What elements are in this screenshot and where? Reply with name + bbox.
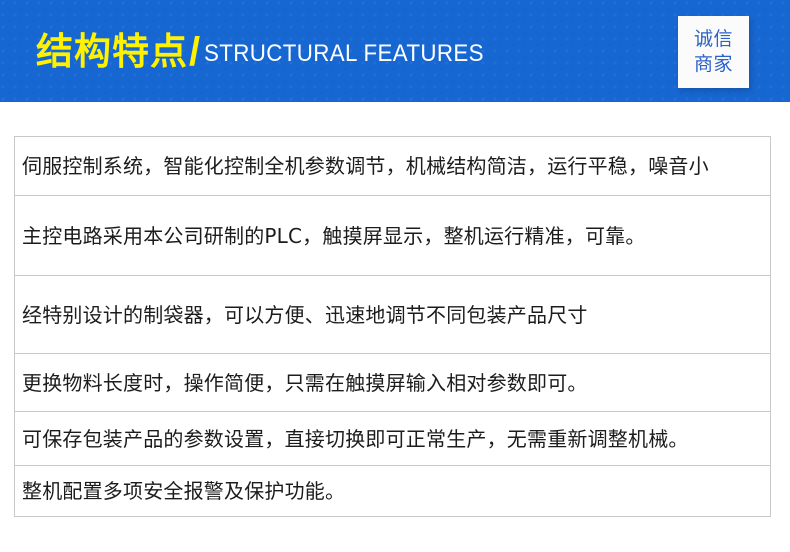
table-row: 伺服控制系统，智能化控制全机参数调节，机械结构简洁，运行平稳，噪音小 [15,137,770,196]
table-row: 可保存包装产品的参数设置，直接切换即可正常生产，无需重新调整机械。 [15,412,770,466]
header-title-group: 结构特点 / STRUCTURAL FEATURES [36,0,505,102]
badge-label-line-1: 诚信 [694,27,733,52]
product-feature-page: 结构特点 / STRUCTURAL FEATURES 诚信 商家 伺服控制系统，… [0,0,790,552]
feature-text: 主控电路采用本公司研制的PLC，触摸屏显示，整机运行精准，可靠。 [22,224,646,248]
title-separator-slash: / [189,32,200,72]
table-row: 主控电路采用本公司研制的PLC，触摸屏显示，整机运行精准，可靠。 [15,196,770,276]
feature-text: 可保存包装产品的参数设置，直接切换即可正常生产，无需重新调整机械。 [22,427,689,451]
feature-list-table: 伺服控制系统，智能化控制全机参数调节，机械结构简洁，运行平稳，噪音小 主控电路采… [14,136,771,517]
feature-text: 更换物料长度时，操作简便，只需在触摸屏输入相对参数即可。 [22,371,588,395]
badge-label-line-2: 商家 [694,52,733,77]
table-row: 更换物料长度时，操作简便，只需在触摸屏输入相对参数即可。 [15,354,770,412]
page-title-english: STRUCTURAL FEATURES [204,42,484,66]
table-row: 整机配置多项安全报警及保护功能。 [15,466,770,517]
page-title-chinese: 结构特点 [36,33,188,70]
feature-text: 经特别设计的制袋器，可以方便、迅速地调节不同包装产品尺寸 [22,303,588,327]
table-row: 经特别设计的制袋器，可以方便、迅速地调节不同包装产品尺寸 [15,276,770,354]
feature-text: 伺服控制系统，智能化控制全机参数调节，机械结构简洁，运行平稳，噪音小 [22,154,709,178]
section-header-banner: 结构特点 / STRUCTURAL FEATURES 诚信 商家 [0,0,790,102]
trust-merchant-badge: 诚信 商家 [678,16,749,88]
feature-text: 整机配置多项安全报警及保护功能。 [22,479,345,503]
